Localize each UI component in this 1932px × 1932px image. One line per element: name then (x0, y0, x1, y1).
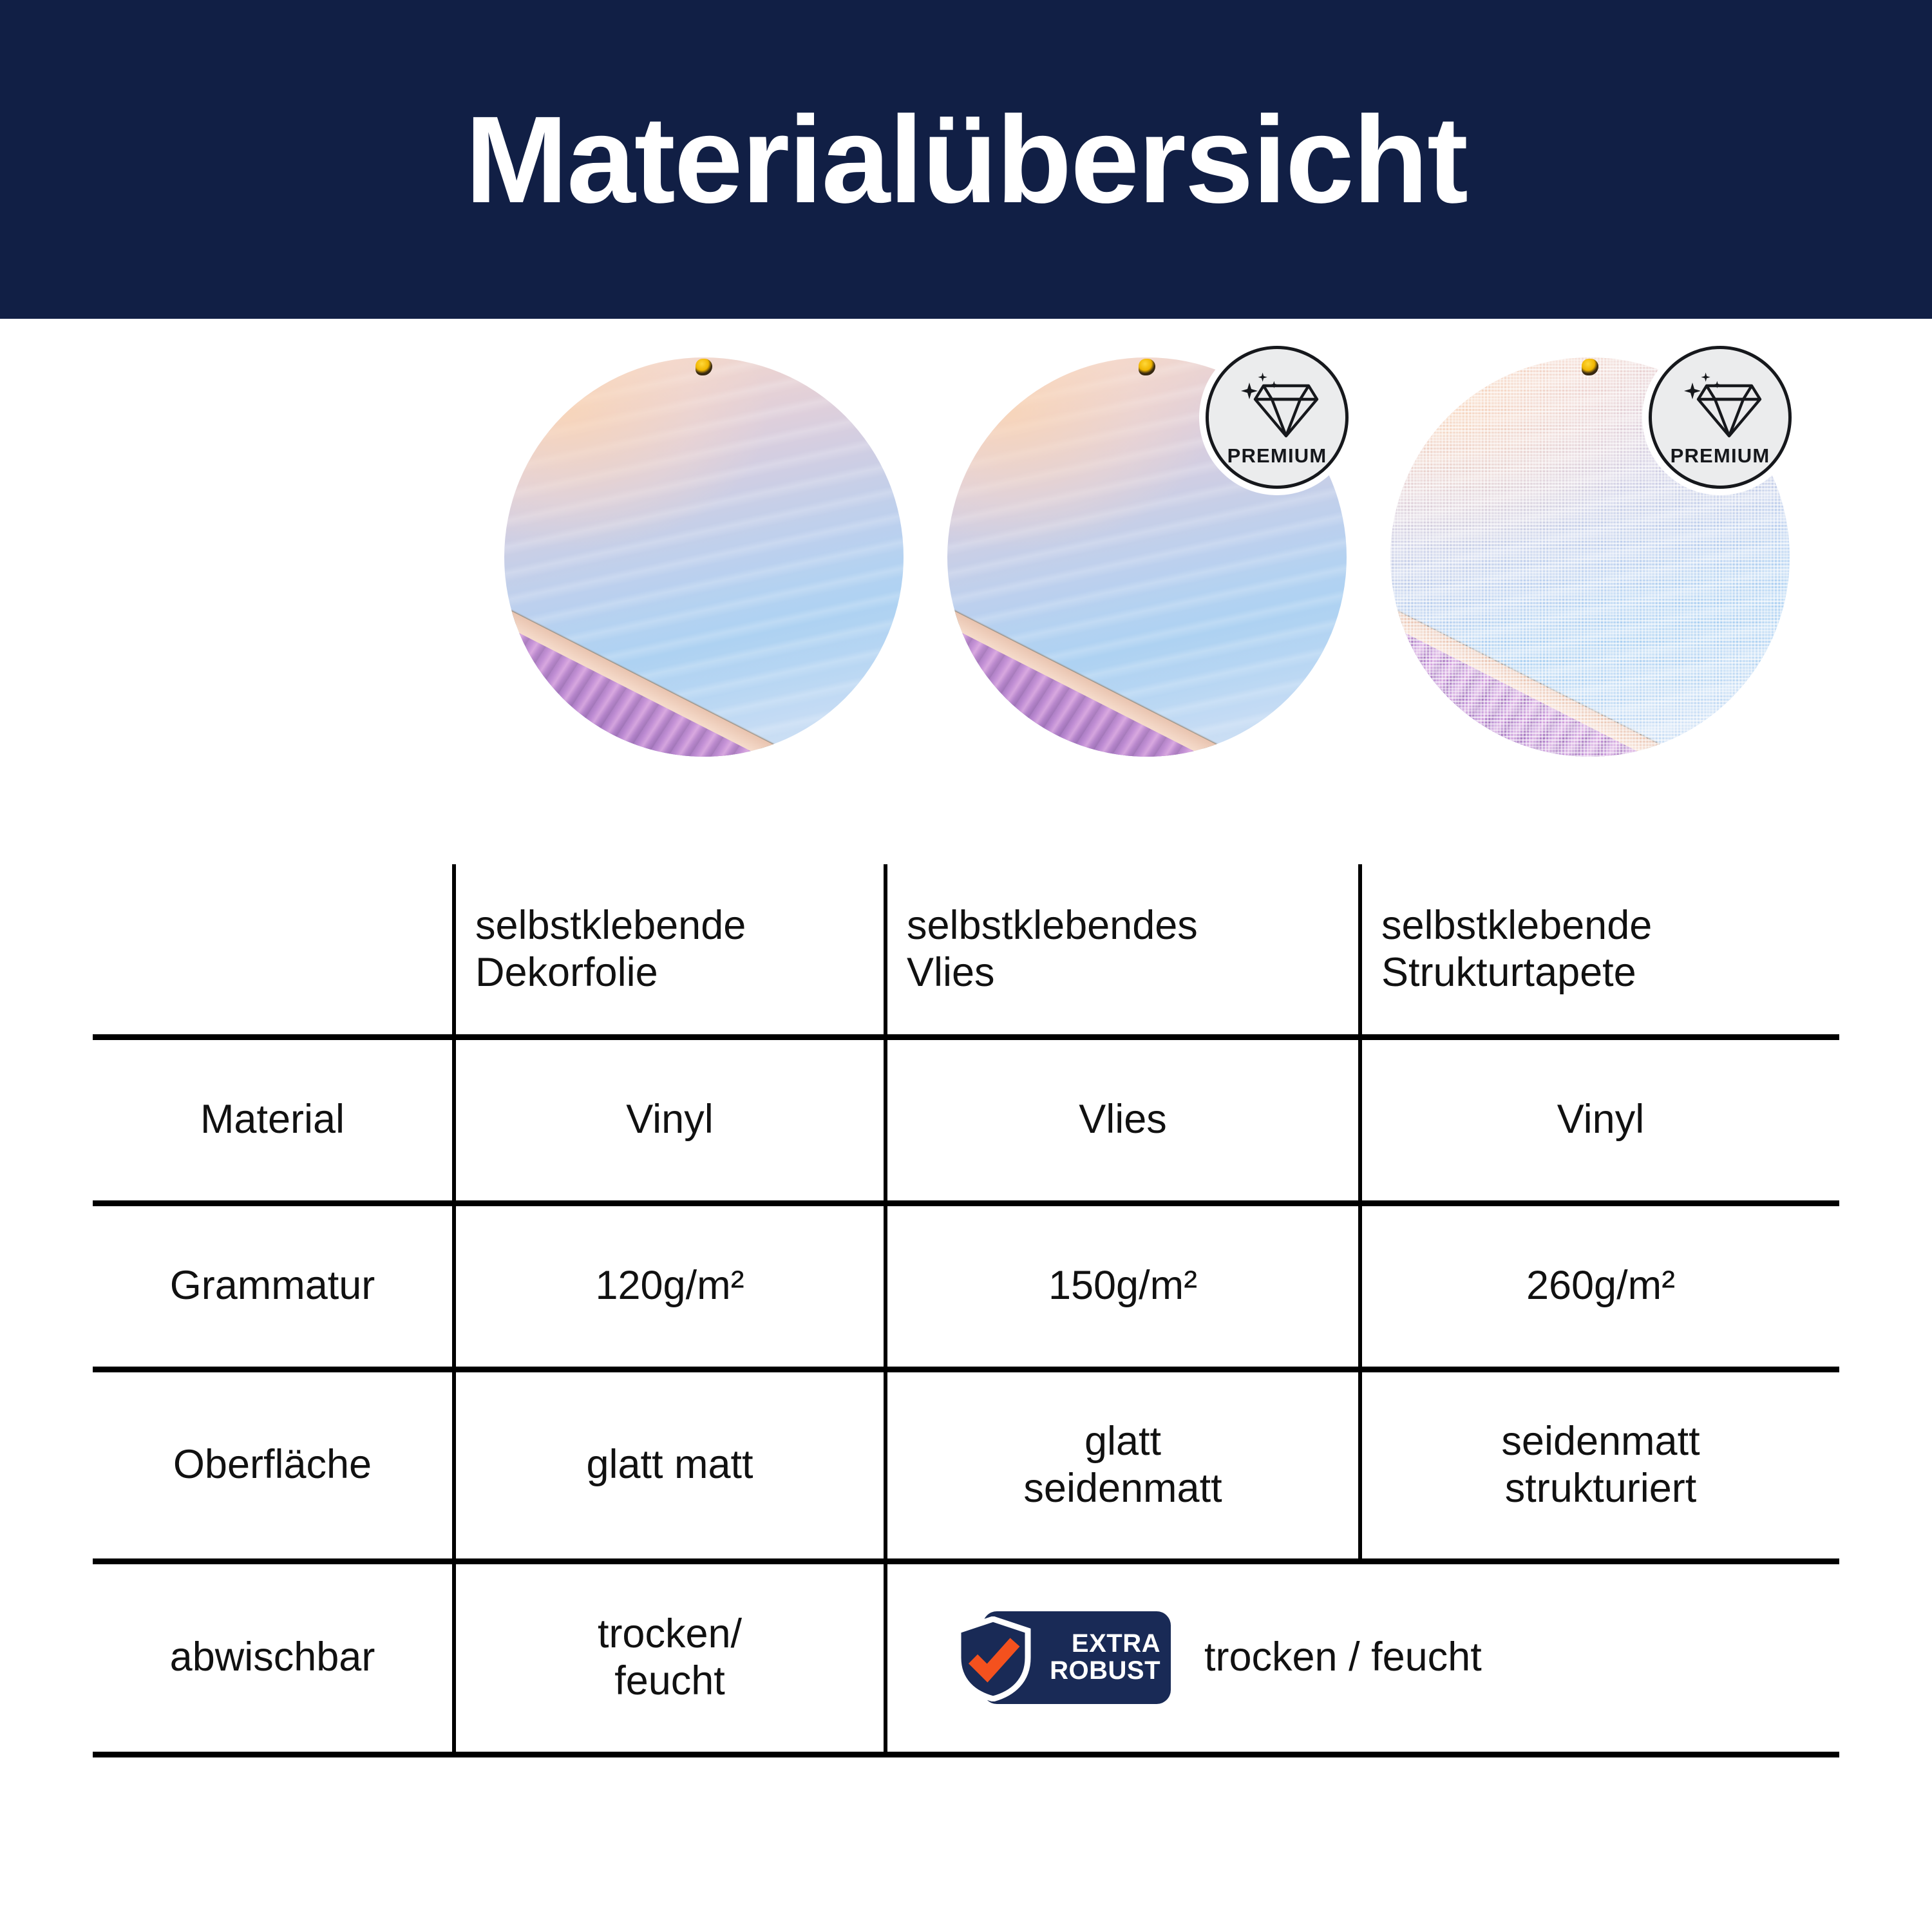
premium-badge-label: PREMIUM (1227, 444, 1327, 468)
cell-grammatur-vlies: 150g/m² (885, 1203, 1360, 1369)
diamond-icon (1678, 367, 1763, 439)
product-preview-vlies: PREMIUM (947, 357, 1347, 757)
column-header-dekorfolie: selbstklebende Dekorfolie (454, 864, 885, 1037)
lavender-field-scene (504, 357, 904, 757)
cell-abwischbar-merged: EXTRA ROBUST trocken (885, 1561, 1839, 1754)
shield-check-icon (952, 1616, 1034, 1701)
product-image-dekorfolie (504, 357, 904, 757)
column-header-strukturtapete: selbstklebende Strukturtapete (1360, 864, 1839, 1037)
table-header-row: selbstklebende Dekorfolie selbstklebende… (93, 864, 1839, 1037)
product-preview-dekorfolie (504, 357, 904, 757)
cell-oberflaeche-strukturtapete: seidenmatt strukturiert (1360, 1369, 1839, 1561)
table-row: Grammatur 120g/m² 150g/m² 260g/m² (93, 1203, 1839, 1369)
product-preview-row: PREMIUM (0, 357, 1932, 770)
cell-material-dekorfolie: Vinyl (454, 1037, 885, 1203)
header-banner: Materialübersicht (0, 0, 1932, 319)
cell-oberflaeche-vlies: glatt seidenmatt (885, 1369, 1360, 1561)
extra-robust-badge: EXTRA ROBUST (952, 1607, 1171, 1708)
cell-oberflaeche-dekorfolie: glatt matt (454, 1369, 885, 1561)
premium-badge: PREMIUM (1649, 346, 1792, 489)
row-label-oberflaeche: Oberfläche (93, 1369, 454, 1561)
table-bottom-rule (885, 1754, 1360, 1757)
premium-badge-label: PREMIUM (1671, 444, 1770, 468)
cell-grammatur-dekorfolie: 120g/m² (454, 1203, 885, 1369)
table-bottom-rule (93, 1754, 454, 1757)
premium-badge: PREMIUM (1206, 346, 1349, 489)
extra-robust-line2: ROBUST (1050, 1658, 1160, 1685)
merged-cell-content: EXTRA ROBUST trocken (894, 1607, 1833, 1708)
product-preview-strukturtapete: PREMIUM (1390, 357, 1790, 757)
table-row: Oberfläche glatt matt glatt seidenmatt s… (93, 1369, 1839, 1561)
row-label-abwischbar: abwischbar (93, 1561, 454, 1754)
material-overview-page: Materialübersicht (0, 0, 1932, 1932)
column-header-vlies: selbstklebendes Vlies (885, 864, 1360, 1037)
table-corner-cell (93, 864, 454, 1037)
cell-abwischbar-merged-text: trocken / feucht (1204, 1634, 1482, 1681)
extra-robust-line1: EXTRA (1072, 1631, 1160, 1658)
table-bottom-rule (1360, 1754, 1839, 1757)
table-bottom-rule (454, 1754, 885, 1757)
cell-material-vlies: Vlies (885, 1037, 1360, 1203)
table-bottom-rule-row (93, 1754, 1839, 1757)
table-row: abwischbar trocken/ feucht EXTRA ROBUST (93, 1561, 1839, 1754)
row-label-grammatur: Grammatur (93, 1203, 454, 1369)
table-row: Material Vinyl Vlies Vinyl (93, 1037, 1839, 1203)
cell-material-strukturtapete: Vinyl (1360, 1037, 1839, 1203)
cell-abwischbar-dekorfolie: trocken/ feucht (454, 1561, 885, 1754)
material-comparison-table-area: selbstklebende Dekorfolie selbstklebende… (93, 864, 1839, 1757)
material-comparison-table: selbstklebende Dekorfolie selbstklebende… (93, 864, 1839, 1757)
row-label-material: Material (93, 1037, 454, 1203)
page-title: Materialübersicht (465, 98, 1467, 222)
diamond-icon (1235, 367, 1320, 439)
cell-grammatur-strukturtapete: 260g/m² (1360, 1203, 1839, 1369)
